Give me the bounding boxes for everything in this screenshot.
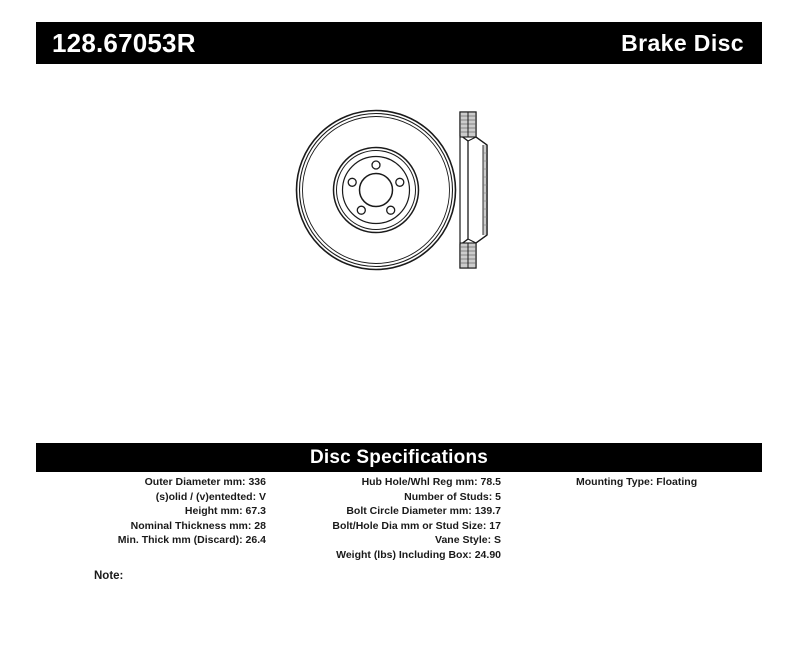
spec-line: Outer Diameter mm: 336	[36, 475, 266, 490]
note-row: Note:	[94, 570, 123, 582]
brake-disc-spec-sheet: 128.67053R Brake Disc	[0, 0, 800, 655]
spec-columns: Outer Diameter mm: 336 (s)olid / (v)ente…	[36, 475, 762, 585]
spec-line: Vane Style: S	[276, 533, 501, 548]
spec-line: Bolt/Hole Dia mm or Stud Size: 17	[276, 519, 501, 534]
spec-line: Hub Hole/Whl Reg mm: 78.5	[276, 475, 501, 490]
spec-column-left: Outer Diameter mm: 336 (s)olid / (v)ente…	[36, 475, 266, 548]
spec-column-middle: Hub Hole/Whl Reg mm: 78.5 Number of Stud…	[276, 475, 501, 563]
brake-rotor-cross-section-view	[460, 112, 487, 268]
spec-line: Number of Studs: 5	[276, 490, 501, 505]
product-type-title: Brake Disc	[621, 32, 744, 55]
technical-drawing	[280, 95, 540, 295]
part-number: 128.67053R	[52, 30, 196, 56]
note-label: Note:	[94, 570, 123, 582]
header-bar: 128.67053R Brake Disc	[36, 22, 762, 64]
spec-section-title: Disc Specifications	[310, 448, 488, 467]
brake-rotor-face-view	[297, 111, 456, 270]
spec-line: (s)olid / (v)entedted: V	[36, 490, 266, 505]
spec-section-header: Disc Specifications	[36, 443, 762, 472]
spec-line: Min. Thick mm (Discard): 26.4	[36, 533, 266, 548]
spec-column-right: Mounting Type: Floating	[576, 475, 766, 490]
spec-line: Weight (lbs) Including Box: 24.90	[276, 548, 501, 563]
spec-line: Height mm: 67.3	[36, 504, 266, 519]
spec-line: Mounting Type: Floating	[576, 475, 766, 490]
spec-line: Nominal Thickness mm: 28	[36, 519, 266, 534]
spec-line: Bolt Circle Diameter mm: 139.7	[276, 504, 501, 519]
